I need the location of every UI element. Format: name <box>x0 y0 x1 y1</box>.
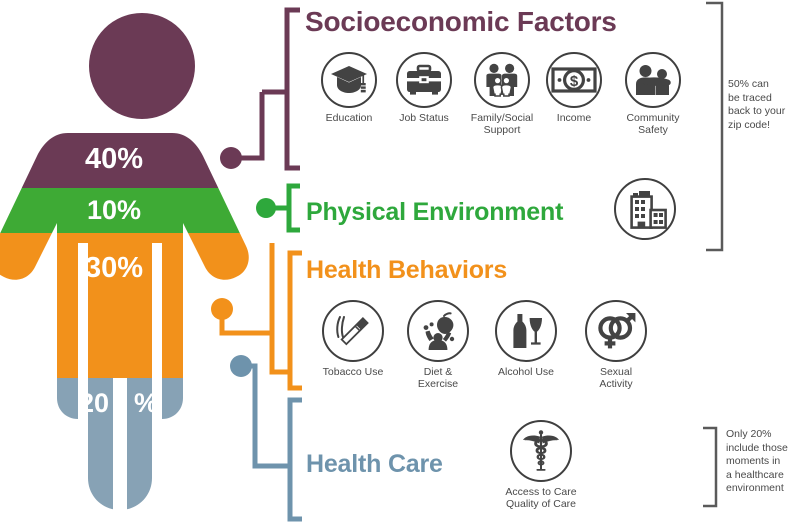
icon-label: Education <box>312 113 386 125</box>
infographic-canvas: 40% 10% 30% 20 % <box>0 0 800 529</box>
icon-label: Alcohol Use <box>487 367 565 379</box>
figure-head <box>89 13 195 119</box>
figure-percent-behaviors: 30% <box>85 252 143 284</box>
section-title-socioeconomic: Socioeconomic Factors <box>305 6 617 38</box>
section-title-health-behaviors: Health Behaviors <box>306 256 507 285</box>
section-title-physical: Physical Environment <box>306 198 563 227</box>
icon-cell-community-safety[interactable]: Community Safety <box>614 52 692 136</box>
caduceus-icon <box>510 420 572 482</box>
cigarette-icon <box>322 300 384 362</box>
icon-cell-tobacco-use[interactable]: Tobacco Use <box>314 300 392 379</box>
icon-label: Sexual Activity <box>577 367 655 390</box>
graduation-cap-icon <box>321 52 377 108</box>
right-bracket-bottom <box>703 428 716 506</box>
icon-cell-education[interactable]: Education <box>312 52 386 125</box>
icon-cell-physical-environment[interactable] <box>608 178 682 245</box>
icon-label: Tobacco Use <box>314 367 392 379</box>
office-building-icon <box>614 178 676 240</box>
right-bracket-top <box>706 3 722 250</box>
svg-text:$: $ <box>570 73 579 90</box>
figure-percent-physical: 10% <box>87 195 141 225</box>
annotation-healthcare-moments: Only 20% include those moments in a heal… <box>726 428 800 496</box>
section-title-health-care: Health Care <box>306 450 443 479</box>
icon-cell-diet-exercise[interactable]: Diet & Exercise <box>399 300 477 390</box>
icon-cell-income[interactable]: $ Income <box>537 52 611 125</box>
gender-symbols-icon <box>585 300 647 362</box>
briefcase-icon <box>396 52 452 108</box>
apple-exercise-icon <box>407 300 469 362</box>
figure-percent-healthcare-symbol: % <box>134 388 158 418</box>
icon-label: Community Safety <box>614 113 692 136</box>
icon-label: Access to Care Quality of Care <box>486 487 596 510</box>
icon-cell-alcohol-use[interactable]: Alcohol Use <box>487 300 565 379</box>
icon-cell-sexual-activity[interactable]: Sexual Activity <box>577 300 655 390</box>
family-group-icon <box>474 52 530 108</box>
figure-body <box>0 125 280 529</box>
icon-label: Job Status <box>387 113 461 125</box>
icon-label: Income <box>537 113 611 125</box>
annotation-zip-code: 50% can be traced back to your zip code! <box>728 78 800 132</box>
dollar-bill-icon: $ <box>546 52 602 108</box>
bottle-glass-icon <box>495 300 557 362</box>
icon-cell-access-quality-of-care[interactable]: Access to Care Quality of Care <box>486 420 596 510</box>
figure-percent-healthcare-number: 20 <box>79 388 109 418</box>
icon-label: Diet & Exercise <box>399 367 477 390</box>
icon-label: Family/Social Support <box>462 113 542 136</box>
body-figure: 40% 10% 30% 20 % <box>0 0 280 529</box>
community-embrace-icon <box>625 52 681 108</box>
icon-cell-job-status[interactable]: Job Status <box>387 52 461 125</box>
icon-cell-family-social-support[interactable]: Family/Social Support <box>462 52 542 136</box>
figure-percent-socioeconomic: 40% <box>85 143 143 175</box>
